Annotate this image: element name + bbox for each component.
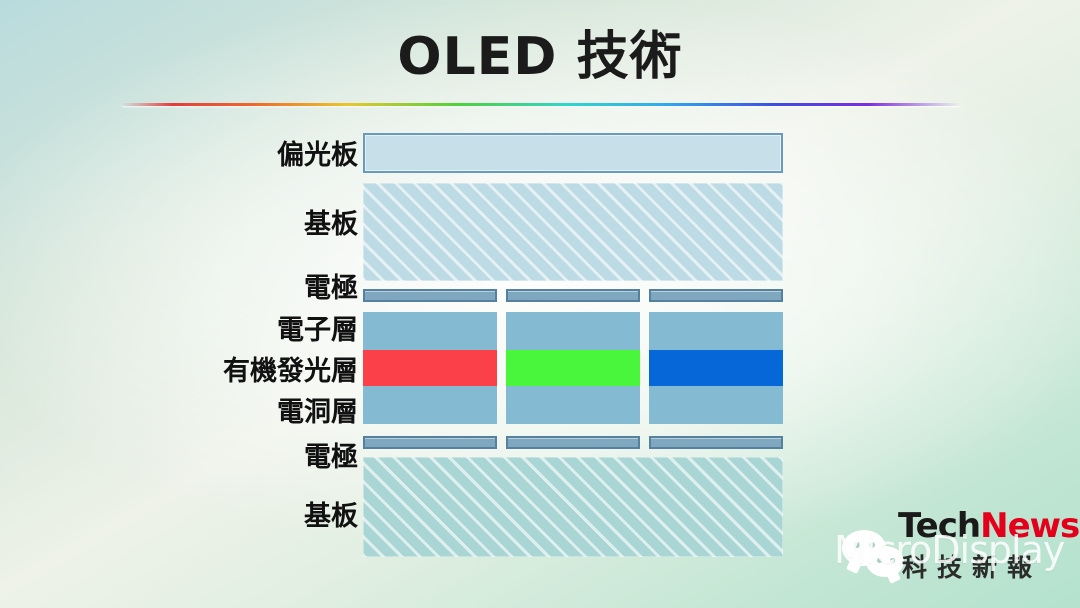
layer-substrate-top xyxy=(363,183,783,281)
green-subpixel xyxy=(506,350,640,386)
hole-layer-blue xyxy=(649,386,783,424)
label-emissive-layer: 有機發光層 xyxy=(223,358,358,385)
technews-logo: TechNews 科技新報 MicroDisplay xyxy=(840,500,1080,608)
blue-subpixel xyxy=(649,350,783,386)
label-electron-layer: 電子層 xyxy=(277,317,358,344)
slide-canvas: OLED 技術 偏光板 基板 電極 電子層 有機發光層 電洞層 電極 基板 xyxy=(0,0,1080,608)
spacer xyxy=(363,302,783,312)
layer-substrate-bottom xyxy=(363,457,783,557)
hole-layer-green xyxy=(506,386,640,424)
label-substrate-bottom: 基板 xyxy=(304,503,358,530)
oled-layer-stack xyxy=(363,133,783,557)
layer-polarizer xyxy=(363,133,783,173)
electrode-segment xyxy=(649,289,783,302)
label-hole-layer: 電洞層 xyxy=(277,399,358,426)
label-polarizer: 偏光板 xyxy=(277,142,358,169)
layer-electrode-bottom xyxy=(363,436,783,449)
electrode-segment xyxy=(363,436,497,449)
spacer xyxy=(363,281,783,289)
spacer xyxy=(363,449,783,457)
hole-layer-red xyxy=(363,386,497,424)
electron-layer-green xyxy=(506,312,640,350)
red-subpixel xyxy=(363,350,497,386)
page-title: OLED 技術 xyxy=(0,24,1080,90)
electrode-segment xyxy=(506,436,640,449)
label-electrode-top: 電極 xyxy=(304,275,358,302)
electron-layer-red xyxy=(363,312,497,350)
electrode-segment xyxy=(649,436,783,449)
subpixel-cell-green xyxy=(506,312,640,424)
layer-electrode-top xyxy=(363,289,783,302)
spacer xyxy=(363,424,783,436)
spacer xyxy=(363,173,783,183)
electrode-segment xyxy=(363,289,497,302)
microdisplay-watermark: MicroDisplay xyxy=(834,528,1064,572)
subpixel-cell-red xyxy=(363,312,497,424)
label-substrate-top: 基板 xyxy=(304,211,358,238)
subpixel-cell-blue xyxy=(649,312,783,424)
label-electrode-bottom: 電極 xyxy=(304,444,358,471)
electron-layer-blue xyxy=(649,312,783,350)
electrode-segment xyxy=(506,289,640,302)
layer-subpixel-cells xyxy=(363,312,783,424)
rainbow-divider xyxy=(122,103,960,106)
